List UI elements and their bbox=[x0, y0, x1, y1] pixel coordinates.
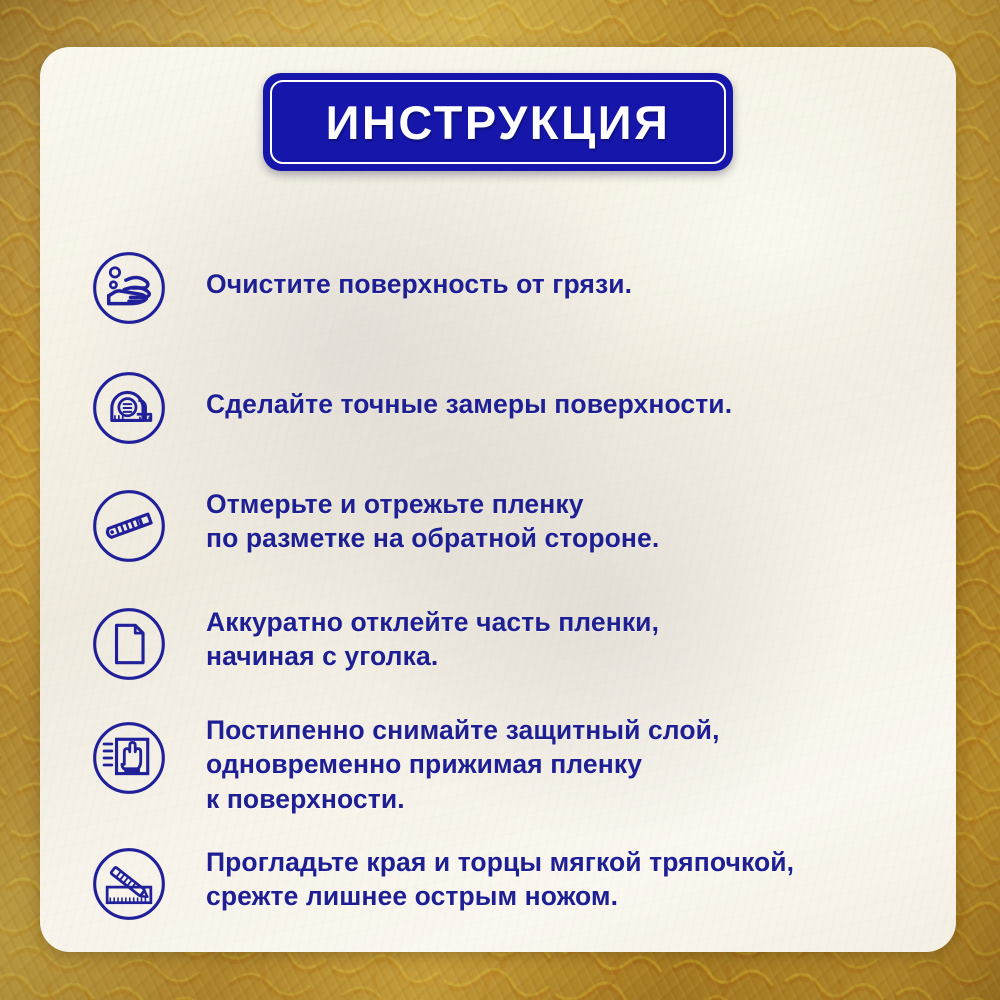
tape-measure-icon bbox=[90, 369, 168, 447]
list-item: Сделайте точные замеры поверхности. bbox=[90, 369, 732, 447]
knife-ruler-icon bbox=[90, 845, 168, 923]
hand-washing-icon bbox=[90, 249, 168, 327]
step-text: Постипенно снимайте защитный слой, однов… bbox=[206, 713, 720, 816]
list-item: Постипенно снимайте защитный слой, однов… bbox=[90, 719, 720, 816]
list-item: Аккуратно отклейте часть пленки, начиная… bbox=[90, 605, 659, 683]
step-text: Сделайте точные замеры поверхности. bbox=[206, 387, 732, 421]
list-item: Отмерьте и отрежьте пленку по разметке н… bbox=[90, 487, 659, 565]
list-item: Очистите поверхность от грязи. bbox=[90, 249, 632, 327]
title-plate: ИНСТРУКЦИЯ bbox=[263, 73, 733, 171]
page-title: ИНСТРУКЦИЯ bbox=[263, 73, 733, 171]
list-item: Прогладьте края и торцы мягкой тряпочкой… bbox=[90, 845, 794, 923]
hand-press-icon bbox=[90, 719, 168, 797]
step-text: Очистите поверхность от грязи. bbox=[206, 267, 632, 301]
step-text: Отмерьте и отрежьте пленку по разметке н… bbox=[206, 487, 659, 556]
utility-knife-icon bbox=[90, 487, 168, 565]
instruction-card: ИНСТРУКЦИЯ Очистите поверхность от грязи… bbox=[40, 47, 956, 952]
step-text: Аккуратно отклейте часть пленки, начиная… bbox=[206, 605, 659, 674]
film-sheet-icon bbox=[90, 605, 168, 683]
step-text: Прогладьте края и торцы мягкой тряпочкой… bbox=[206, 845, 794, 914]
